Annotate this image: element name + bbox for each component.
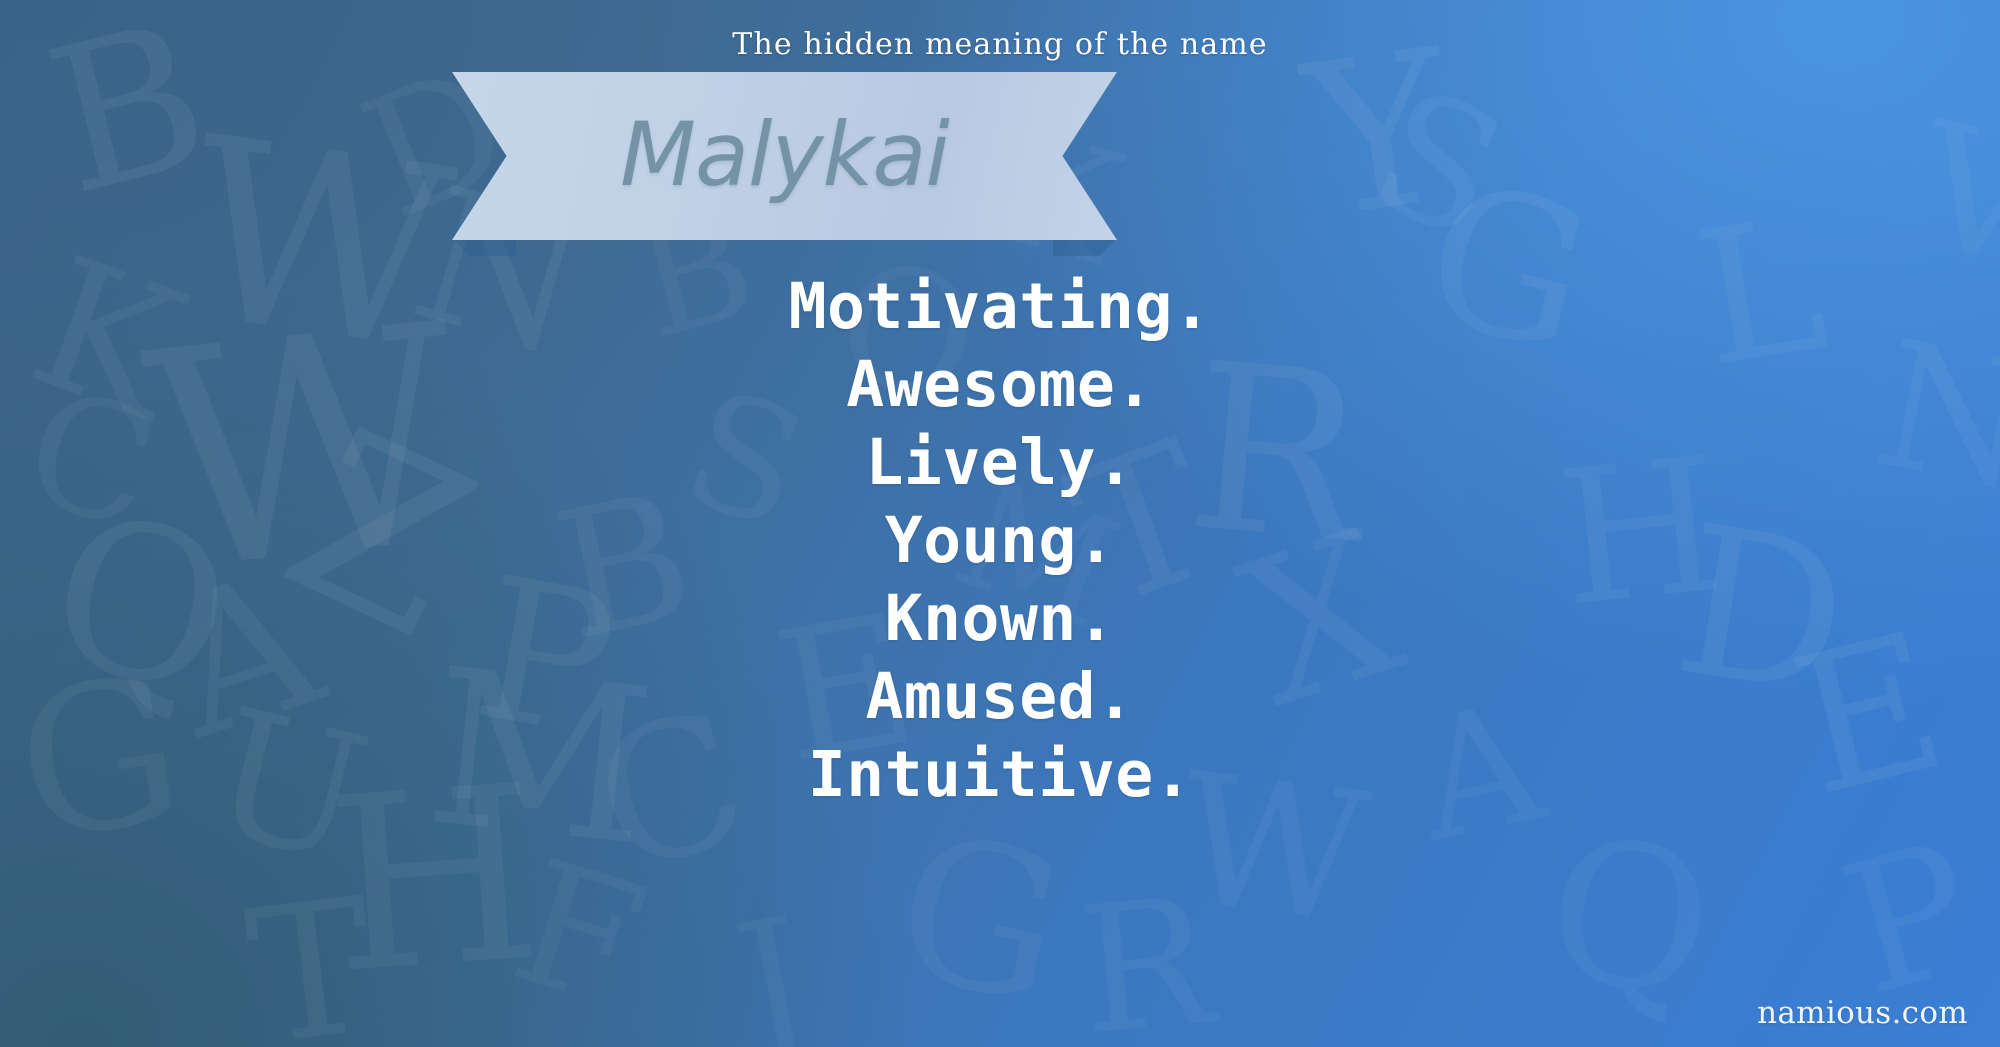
traits-list: Motivating.Awesome.Lively.Young.Known.Am… bbox=[0, 268, 2000, 814]
trait-line: Known. bbox=[0, 580, 2000, 658]
name-ribbon-banner: Malykai bbox=[452, 72, 1117, 240]
ribbon-fold-shadow-left bbox=[452, 238, 516, 256]
trait-line: Awesome. bbox=[0, 346, 2000, 424]
watermark-letter: Q bbox=[1537, 810, 1722, 1025]
watermark-letter: P bbox=[1828, 817, 1994, 1023]
trait-line: Lively. bbox=[0, 424, 2000, 502]
name-text: Malykai bbox=[452, 72, 1117, 240]
watermark-letter: R bbox=[1073, 875, 1220, 1047]
trait-line: Amused. bbox=[0, 658, 2000, 736]
poster-canvas: BWKWQAZGUHNDPBMCSEGTRYGHSDENXWAKLVBOTFJQ… bbox=[0, 0, 2000, 1047]
trait-line: Young. bbox=[0, 502, 2000, 580]
watermark-letter: G bbox=[881, 806, 1079, 1035]
watermark-letter: T bbox=[239, 873, 384, 1047]
watermark-letter: J bbox=[725, 895, 818, 1047]
trait-line: Motivating. bbox=[0, 268, 2000, 346]
site-watermark: namious.com bbox=[1757, 995, 1968, 1031]
watermark-letter: S bbox=[1352, 64, 1524, 265]
watermark-letter: V bbox=[1902, 98, 2000, 291]
ribbon-fold-shadow-right bbox=[1053, 238, 1117, 256]
page-title: The hidden meaning of the name bbox=[0, 27, 2000, 62]
trait-line: Intuitive. bbox=[0, 736, 2000, 814]
watermark-letter: F bbox=[498, 836, 661, 1033]
